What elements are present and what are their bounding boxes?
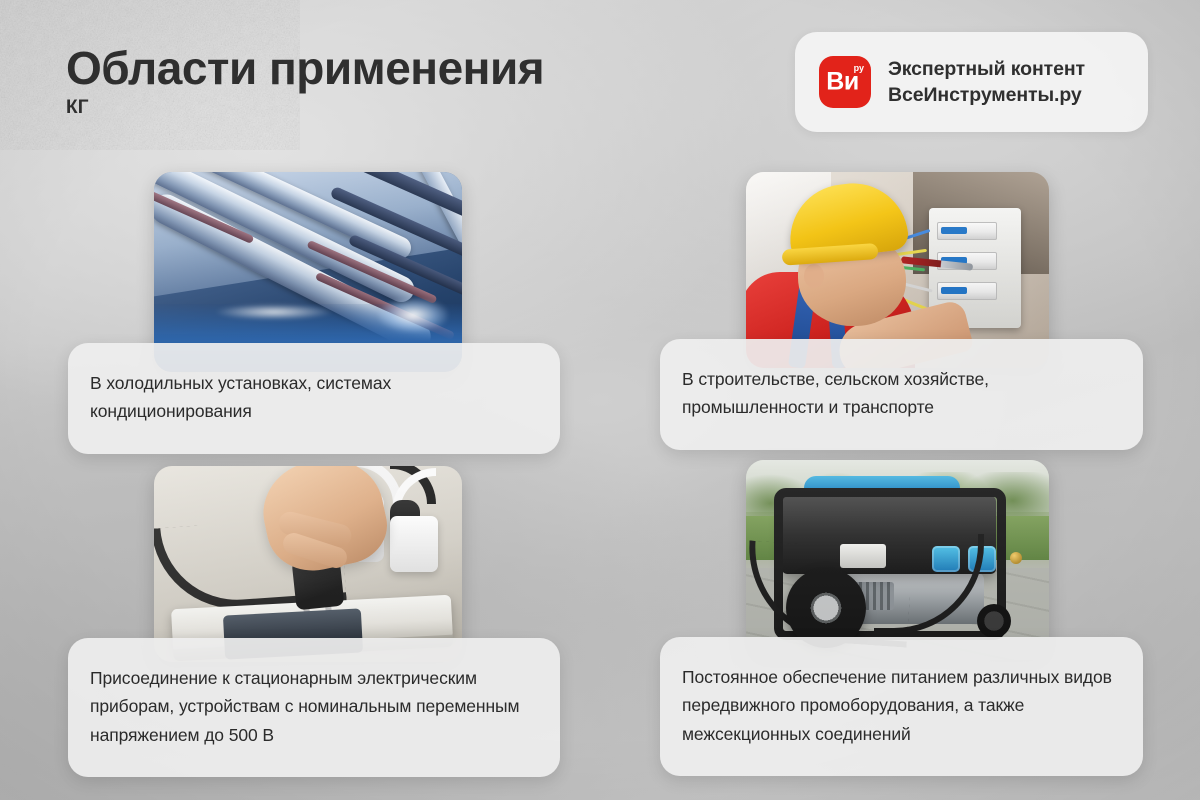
brand-badge: Ви ру Экспертный контент ВсеИнструменты.…: [795, 32, 1148, 132]
power-plug-illustration: [154, 466, 462, 662]
page-title: Области применения: [66, 44, 544, 93]
industrial-hvac-pipes-photo: [154, 172, 462, 372]
application-text-card: В строительстве, сельском хозяйстве, про…: [660, 339, 1143, 450]
application-text: Постоянное обеспечение питанием различны…: [682, 663, 1113, 748]
application-text-card: Постоянное обеспечение питанием различны…: [660, 637, 1143, 776]
vseinstrumenty-logo-icon: Ви ру: [819, 56, 871, 108]
application-text-card: В холодильных установках, системах конди…: [68, 343, 560, 454]
application-text-card: Присоединение к стационарным электрическ…: [68, 638, 560, 777]
hvac-illustration: [154, 172, 462, 372]
logo-superscript: ру: [854, 64, 864, 73]
infographic-page: Области применения КГ Ви ру Экспертный к…: [0, 0, 1200, 800]
brand-text: Экспертный контент ВсеИнструменты.ру: [888, 58, 1085, 107]
brand-tagline: Экспертный контент: [888, 58, 1085, 81]
application-text: Присоединение к стационарным электрическ…: [90, 664, 530, 749]
generator-illustration: [746, 460, 1049, 660]
application-text: В холодильных установках, системах конди…: [90, 369, 530, 426]
application-text: В строительстве, сельском хозяйстве, про…: [682, 365, 1113, 422]
portable-gasoline-generator-photo: [746, 460, 1049, 660]
hand-plugging-power-strip-photo: [154, 466, 462, 662]
brand-name: ВсеИнструменты.ру: [888, 84, 1085, 107]
page-title-block: Области применения КГ: [66, 44, 544, 119]
page-subtitle: КГ: [66, 97, 544, 119]
